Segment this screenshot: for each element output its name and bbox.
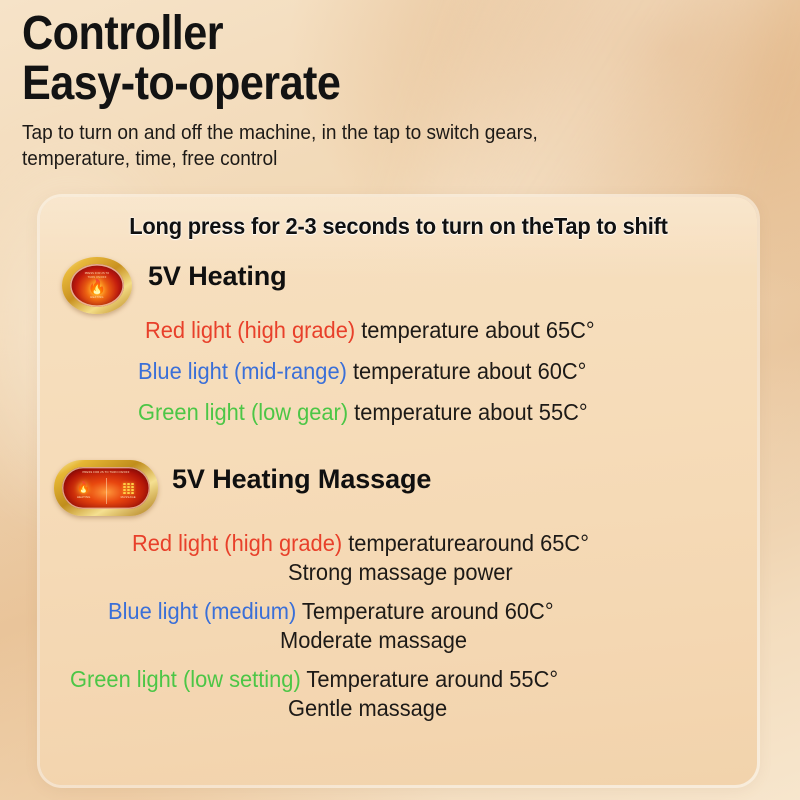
heating-tag-red: Red light (high grade) bbox=[145, 317, 355, 343]
heating-text-red: temperature about 65C° bbox=[355, 317, 595, 343]
heating-tag-green: Green light (low gear) bbox=[138, 399, 348, 425]
massage-text-green: Temperature around 55C° bbox=[301, 666, 558, 692]
flame-icon: 🔥 bbox=[88, 280, 107, 295]
massage-button-cell-heating[interactable]: 🔥 HEATING bbox=[62, 476, 106, 506]
massage-line-red: Red light (high grade) temperaturearound… bbox=[132, 530, 726, 557]
heating-massage-controller-face: PRESS FOR 2S TO TURN ON/OFF 🔥 HEATING bbox=[62, 467, 150, 509]
massage-spec-lines: Red light (high grade) temperaturearound… bbox=[40, 530, 757, 722]
page-subtitle-line2: temperature, time, free control bbox=[22, 146, 729, 172]
flame-icon: 🔥 bbox=[77, 483, 91, 494]
massage-pair-blue: Blue light (medium) Temperature around 6… bbox=[40, 598, 757, 654]
section-heating-massage: PRESS FOR 2S TO TURN ON/OFF 🔥 HEATING bbox=[40, 460, 757, 722]
heating-button-microtext-top: PRESS FOR 2S TO TURN ON/OFF bbox=[85, 272, 110, 278]
heating-tag-blue: Blue light (mid-range) bbox=[138, 358, 347, 384]
page-title-line1: Controller bbox=[22, 10, 706, 58]
massage-sub-green: Gentle massage bbox=[288, 695, 734, 722]
massage-pair-green: Green light (low setting) Temperature ar… bbox=[40, 666, 757, 722]
heating-text-green: temperature about 55C° bbox=[348, 399, 588, 425]
massage-tag-red: Red light (high grade) bbox=[132, 530, 342, 556]
instructions-card: Long press for 2-3 seconds to turn on th… bbox=[40, 197, 757, 785]
heating-controller-face: PRESS FOR 2S TO TURN ON/OFF 🔥 HEATING bbox=[70, 264, 124, 307]
page-subtitle-line1: Tap to turn on and off the machine, in t… bbox=[22, 121, 538, 144]
headline-block: Controller Easy-to-operate Tap to turn o… bbox=[22, 10, 782, 173]
massage-line-green: Green light (low setting) Temperature ar… bbox=[70, 666, 723, 693]
section-heating-title: 5V Heating bbox=[148, 261, 287, 292]
heating-line-green: Green light (low gear) temperature about… bbox=[138, 399, 726, 426]
heating-line-red: Red light (high grade) temperature about… bbox=[145, 317, 726, 344]
heating-massage-controller-button[interactable]: PRESS FOR 2S TO TURN ON/OFF 🔥 HEATING bbox=[54, 460, 158, 516]
massage-button-heating-label: HEATING bbox=[77, 495, 91, 499]
massage-sub-blue: Moderate massage bbox=[280, 627, 733, 654]
massage-pair-red: Red light (high grade) temperaturearound… bbox=[40, 530, 757, 586]
heating-button-microtext-bottom: HEATING bbox=[90, 296, 103, 299]
page-title-line2: Easy-to-operate bbox=[22, 60, 706, 108]
massage-tag-green: Green light (low setting) bbox=[70, 666, 301, 692]
infographic-page: Controller Easy-to-operate Tap to turn o… bbox=[0, 0, 800, 800]
massage-tag-blue: Blue light (medium) bbox=[108, 598, 296, 624]
page-subtitle: Tap to turn on and off the machine, in t… bbox=[22, 120, 729, 172]
massage-text-blue: Temperature around 60C° bbox=[296, 598, 553, 624]
massage-button-massage-label: MASSAGE bbox=[121, 495, 136, 499]
massage-vibration-icon bbox=[123, 483, 134, 494]
section-massage-title: 5V Heating Massage bbox=[172, 464, 431, 495]
massage-button-cells: 🔥 HEATING MASSAGE bbox=[62, 476, 150, 506]
massage-sub-red: Strong massage power bbox=[288, 559, 734, 586]
section-massage-header: PRESS FOR 2S TO TURN ON/OFF 🔥 HEATING bbox=[40, 460, 757, 518]
heating-spec-lines: Red light (high grade) temperature about… bbox=[40, 317, 757, 426]
massage-line-blue: Blue light (medium) Temperature around 6… bbox=[108, 598, 725, 625]
section-heating-header: PRESS FOR 2S TO TURN ON/OFF 🔥 HEATING 5V… bbox=[40, 255, 757, 313]
massage-text-red: temperaturearound 65C° bbox=[342, 530, 589, 556]
heating-text-blue: temperature about 60C° bbox=[347, 358, 587, 384]
heating-controller-button[interactable]: PRESS FOR 2S TO TURN ON/OFF 🔥 HEATING bbox=[62, 257, 132, 314]
panel-title: Long press for 2-3 seconds to turn on th… bbox=[65, 213, 732, 240]
heating-line-blue: Blue light (mid-range) temperature about… bbox=[138, 358, 726, 385]
section-heating: PRESS FOR 2S TO TURN ON/OFF 🔥 HEATING 5V… bbox=[40, 255, 757, 426]
massage-button-microtext-top: PRESS FOR 2S TO TURN ON/OFF bbox=[62, 471, 150, 474]
massage-button-cell-massage[interactable]: MASSAGE bbox=[107, 476, 151, 506]
